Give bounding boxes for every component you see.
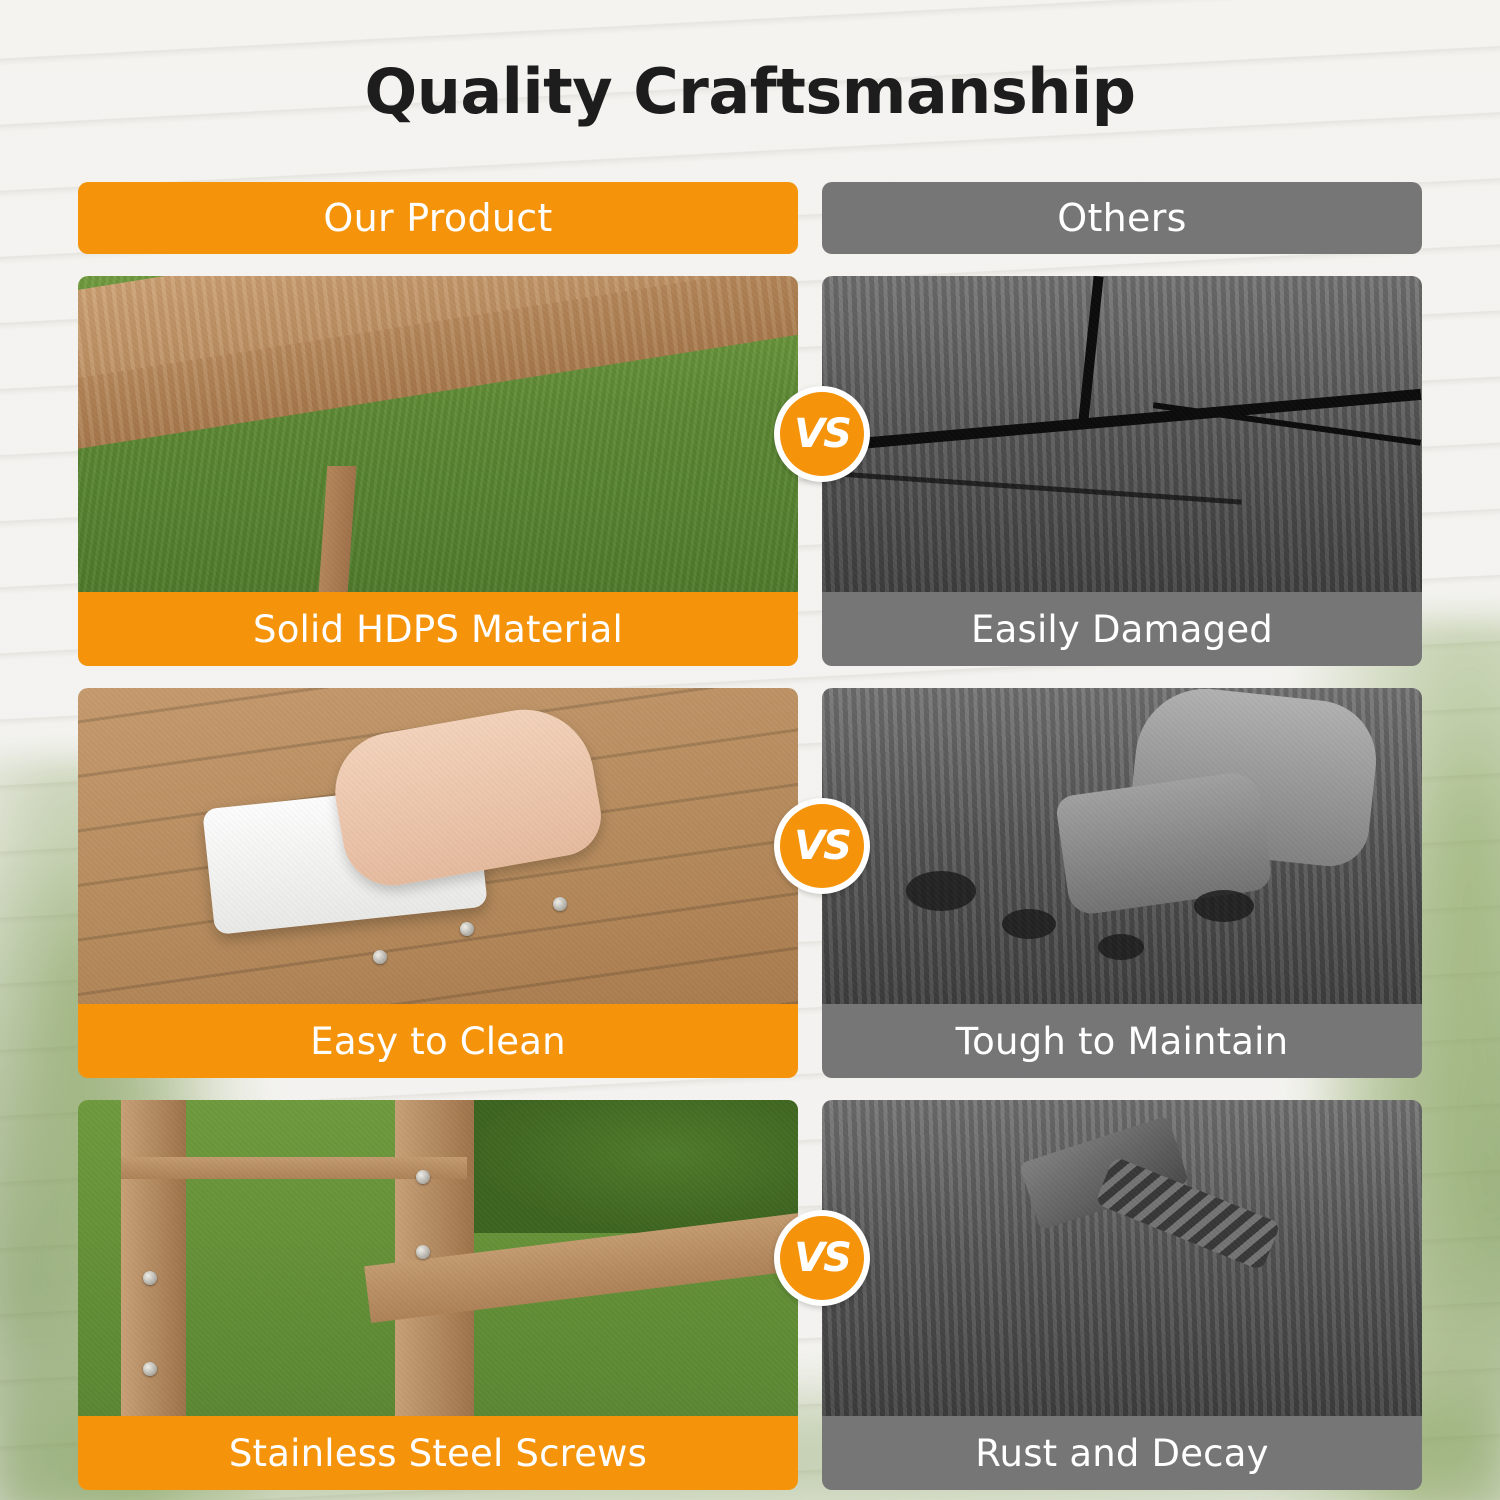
cell-others-3: Rust and Decay — [822, 1100, 1422, 1490]
cell-others-1: Easily Damaged — [822, 276, 1422, 666]
vs-badge-1: VS — [774, 386, 870, 482]
cell-others-2: Tough to Maintain — [822, 688, 1422, 1078]
photo-easily-damaged — [822, 276, 1422, 592]
vs-badge-2: VS — [774, 798, 870, 894]
caption-others-1: Easily Damaged — [822, 592, 1422, 666]
photo-rust-and-decay — [822, 1100, 1422, 1416]
cell-ours-3: Stainless Steel Screws — [78, 1100, 798, 1490]
screw — [143, 1271, 157, 1285]
screw — [143, 1362, 157, 1376]
caption-ours-1: Solid HDPS Material — [78, 592, 798, 666]
screw — [460, 922, 474, 936]
cross-brace — [121, 1157, 467, 1179]
comparison-infographic: Quality Craftsmanship Our Product Others… — [0, 0, 1500, 1500]
caption-ours-2: Easy to Clean — [78, 1004, 798, 1078]
stain — [1194, 890, 1254, 922]
stain — [906, 871, 976, 911]
screw — [553, 897, 567, 911]
cell-ours-2: Easy to Clean — [78, 688, 798, 1078]
caption-others-3: Rust and Decay — [822, 1416, 1422, 1490]
photo-solid-hdps-material — [78, 276, 798, 592]
stain — [1002, 909, 1056, 939]
vs-label: VS — [794, 411, 850, 457]
vs-label: VS — [794, 823, 850, 869]
comparison-row-3: Stainless Steel Screws Rust and Decay VS — [78, 1100, 1422, 1490]
page-title: Quality Craftsmanship — [0, 55, 1500, 128]
photo-tough-to-maintain — [822, 688, 1422, 1004]
screw — [416, 1170, 430, 1184]
column-headers: Our Product Others — [78, 182, 1422, 254]
comparison-row-2: Easy to Clean Tough to Maintain VS — [78, 688, 1422, 1078]
caption-others-2: Tough to Maintain — [822, 1004, 1422, 1078]
photo-easy-to-clean — [78, 688, 798, 1004]
cell-ours-1: Solid HDPS Material — [78, 276, 798, 666]
photo-stainless-steel-screws — [78, 1100, 798, 1416]
comparison-grid: Our Product Others Solid HDPS Material — [78, 182, 1422, 1490]
shrub — [467, 1100, 798, 1233]
vs-label: VS — [794, 1235, 850, 1281]
vs-badge-3: VS — [774, 1210, 870, 1306]
header-others: Others — [822, 182, 1422, 254]
comparison-row-1: Solid HDPS Material Easily Damaged VS — [78, 276, 1422, 666]
caption-ours-3: Stainless Steel Screws — [78, 1416, 798, 1490]
header-our-product: Our Product — [78, 182, 798, 254]
